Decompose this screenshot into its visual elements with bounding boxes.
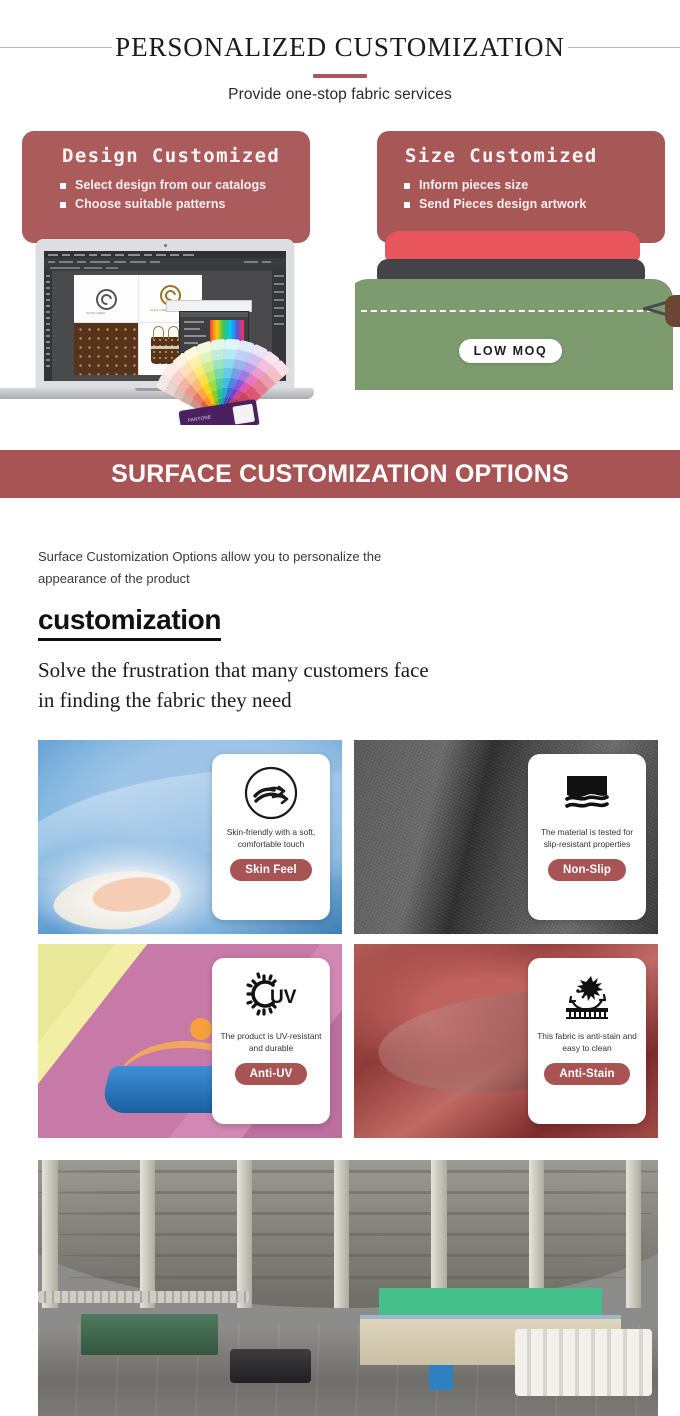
logo-caption: VIAN CHEN: [86, 311, 105, 315]
header-subtitle: Provide one-stop fabric services: [0, 86, 680, 104]
list-item: Send Pieces design artwork: [404, 195, 665, 214]
feature-pill-anti-stain[interactable]: Anti-Stain: [544, 1063, 629, 1085]
list-item: Inform pieces size: [404, 176, 665, 195]
roof-column: [237, 1160, 252, 1308]
feature-pill-skin-feel[interactable]: Skin Feel: [230, 859, 311, 881]
roof-column: [626, 1160, 641, 1308]
roof-column: [334, 1160, 349, 1308]
intro-line-2: appearance of the product: [38, 568, 598, 590]
intro-headline: customization: [38, 604, 221, 641]
feature-cell-skin-feel: Skin-friendly with a soft, comfortable t…: [38, 740, 342, 934]
fabric-dark-grey: [377, 259, 645, 281]
card-design-bullets: Select design from our catalogs Choose s…: [22, 176, 310, 214]
hand-stroking-fabric-icon: [212, 760, 330, 826]
factory-fabric-rolls: [515, 1329, 651, 1396]
roof-column: [140, 1160, 155, 1308]
factory-photo: [38, 1160, 658, 1416]
factory-blue-barrel: [429, 1365, 454, 1391]
intro-line-1: Surface Customization Options allow you …: [38, 546, 598, 568]
header-accent-dash: [313, 74, 367, 78]
feature-cell-anti-uv: UV The product is UV-resistant and durab…: [38, 944, 342, 1138]
list-item: Choose suitable patterns: [60, 195, 310, 214]
page-root: PERSONALIZED CUSTOMIZATION Provide one-s…: [0, 0, 680, 1416]
low-moq-badge: LOW MOQ: [459, 339, 562, 363]
monogram-pattern-swatch: [74, 323, 138, 375]
card-size-bullets: Inform pieces size Send Pieces design ar…: [377, 176, 665, 214]
svg-text:UV: UV: [270, 987, 297, 1008]
fabric-green: [355, 279, 673, 390]
feature-card-anti-uv: UV The product is UV-resistant and durab…: [212, 958, 330, 1124]
app-toolbar: [44, 258, 286, 265]
cut-line-dashed: [361, 310, 653, 312]
laptop-illustration: VIAN CHEN VIAN CHEN: [0, 225, 345, 425]
feature-cell-non-slip: The material is tested for slip-resistan…: [354, 740, 658, 934]
factory-material-drum: [230, 1349, 311, 1382]
intro-serif-line-1: Solve the frustration that many customer…: [38, 655, 598, 685]
card-design-title: Design Customized: [62, 145, 310, 167]
feature-description: Skin-friendly with a soft, comfortable t…: [212, 826, 330, 850]
list-item: Select design from our catalogs: [60, 176, 310, 195]
factory-duct: [38, 1291, 249, 1304]
section-banner-title: SURFACE CUSTOMIZATION OPTIONS: [0, 450, 680, 498]
feature-pill-non-slip[interactable]: Non-Slip: [548, 859, 626, 881]
laptop-camera-icon: [164, 244, 167, 247]
app-menubar: [44, 251, 286, 258]
textured-surface-waves-icon: [528, 760, 646, 826]
feature-card-skin-feel: Skin-friendly with a soft, comfortable t…: [212, 754, 330, 920]
factory-machinery: [81, 1314, 217, 1355]
feature-card-non-slip: The material is tested for slip-resistan…: [528, 754, 646, 920]
page-header: PERSONALIZED CUSTOMIZATION: [0, 24, 680, 70]
roof-column: [431, 1160, 446, 1308]
app-options-bar: [44, 265, 286, 271]
sun-uv-icon: UV: [212, 964, 330, 1030]
brand-logo-icon: [96, 289, 117, 310]
feature-description: The product is UV-resistant and durable: [212, 1030, 330, 1054]
intro-serif-line-2: in finding the fabric they need: [38, 685, 598, 715]
factory-roof: [38, 1160, 658, 1308]
section-banner: SURFACE CUSTOMIZATION OPTIONS: [0, 450, 680, 498]
liquid-splash-repelled-icon: [528, 964, 646, 1030]
intro-text-block: Surface Customization Options allow you …: [38, 546, 598, 715]
feature-description: The material is tested for slip-resistan…: [528, 826, 646, 850]
feature-description: This fabric is anti-stain and easy to cl…: [528, 1030, 646, 1054]
card-size-title: Size Customized: [405, 145, 665, 167]
feature-cell-anti-stain: This fabric is anti-stain and easy to cl…: [354, 944, 658, 1138]
feature-pill-anti-uv[interactable]: Anti-UV: [235, 1063, 308, 1085]
feature-card-anti-stain: This fabric is anti-stain and easy to cl…: [528, 958, 646, 1124]
page-title: PERSONALIZED CUSTOMIZATION: [0, 24, 680, 70]
fabric-red: [385, 231, 640, 261]
feature-grid: Skin-friendly with a soft, comfortable t…: [38, 740, 658, 1138]
roof-column: [529, 1160, 544, 1308]
fabric-stack-illustration: LOW MOQ: [355, 225, 680, 390]
scissors-icon: [643, 293, 680, 333]
app-tools-panel: [44, 271, 52, 381]
pantone-color-fan: PANTONE: [186, 303, 345, 425]
roof-column: [42, 1160, 57, 1308]
canvas-divider-vertical: [138, 275, 139, 375]
